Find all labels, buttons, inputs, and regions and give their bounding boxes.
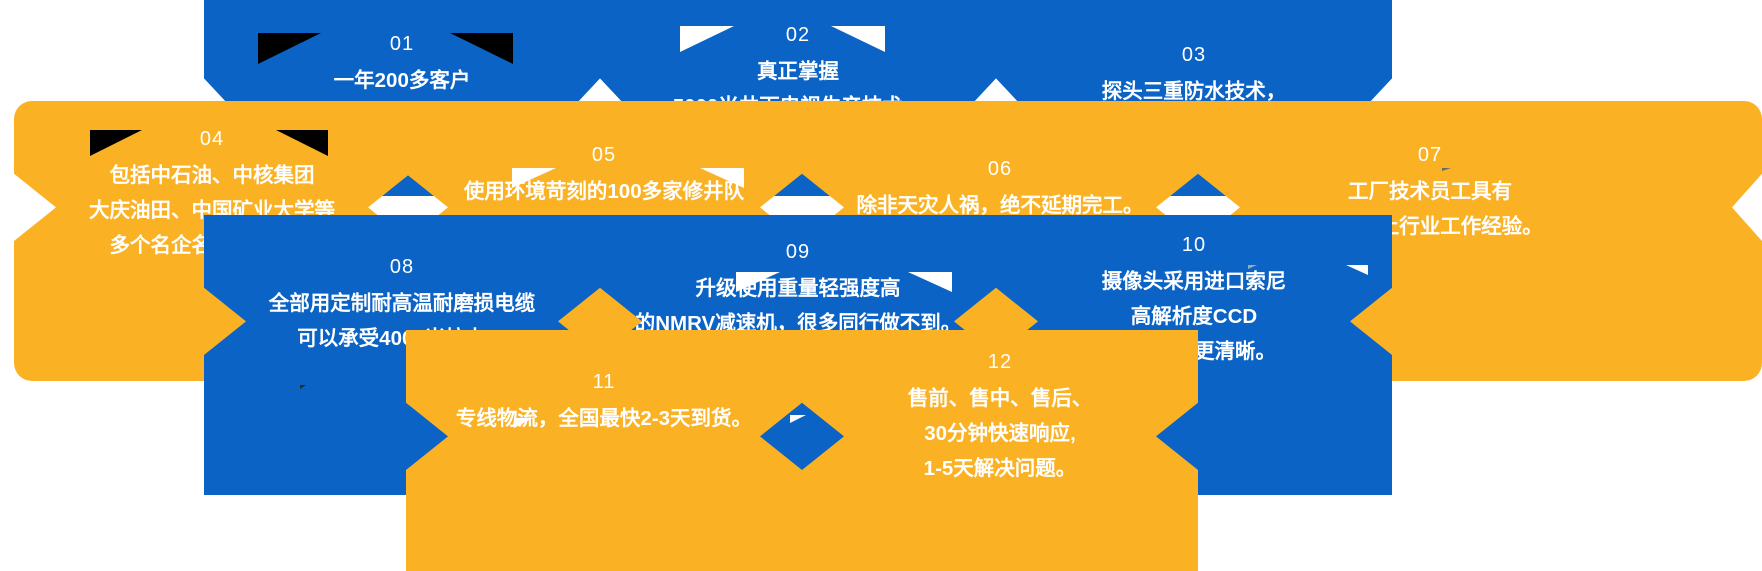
card-05-number: 05 bbox=[592, 145, 616, 165]
card-02-line-1: 真正掌握 bbox=[757, 54, 839, 89]
card-10-line-2: 高解析度CCD bbox=[1131, 299, 1257, 334]
card-11[interactable]: 11 专线物流，全国最快2-3天到货。 bbox=[406, 330, 802, 571]
card-02-number: 02 bbox=[786, 25, 810, 45]
card-05-line-1: 使用环境苛刻的100多家修井队 bbox=[464, 174, 744, 209]
card-12-line-3: 1-5天解决问题。 bbox=[924, 451, 1077, 486]
infographic-canvas: 01 一年200多客户 外贸内贸连续5年无一质量投诉。 02 真正掌握 5000… bbox=[0, 0, 1762, 571]
card-11-lines: 专线物流，全国最快2-3天到货。 bbox=[456, 401, 752, 436]
card-07-line-1: 工厂技术员工具有 bbox=[1348, 174, 1512, 209]
card-12-lines: 售前、售中、售后、 30分钟快速响应, 1-5天解决问题。 bbox=[908, 381, 1093, 486]
card-12-line-1: 售前、售中、售后、 bbox=[908, 381, 1093, 416]
card-06-number: 06 bbox=[988, 159, 1012, 179]
card-10-line-1: 摄像头采用进口索尼 bbox=[1102, 264, 1287, 299]
card-11-number: 11 bbox=[593, 372, 616, 392]
card-10-number: 10 bbox=[1182, 235, 1206, 255]
card-08-line-1: 全部用定制耐高温耐磨损电缆 bbox=[269, 286, 536, 321]
card-07-number: 07 bbox=[1418, 145, 1442, 165]
card-01-number: 01 bbox=[390, 34, 414, 54]
card-12-number: 12 bbox=[988, 352, 1012, 372]
card-11-line-1: 专线物流，全国最快2-3天到货。 bbox=[456, 401, 752, 436]
card-12[interactable]: 12 售前、售中、售后、 30分钟快速响应, 1-5天解决问题。 bbox=[802, 330, 1198, 571]
card-08-number: 08 bbox=[390, 257, 414, 277]
card-03-number: 03 bbox=[1182, 45, 1206, 65]
card-09-number: 09 bbox=[786, 242, 810, 262]
card-12-line-2: 30分钟快速响应, bbox=[924, 416, 1076, 451]
card-04-line-1: 包括中石油、中核集团 bbox=[110, 158, 315, 193]
card-04-number: 04 bbox=[200, 129, 224, 149]
card-01-line-1: 一年200多客户 bbox=[334, 63, 471, 98]
card-09-line-1: 升级使用重量轻强度高 bbox=[696, 271, 901, 306]
